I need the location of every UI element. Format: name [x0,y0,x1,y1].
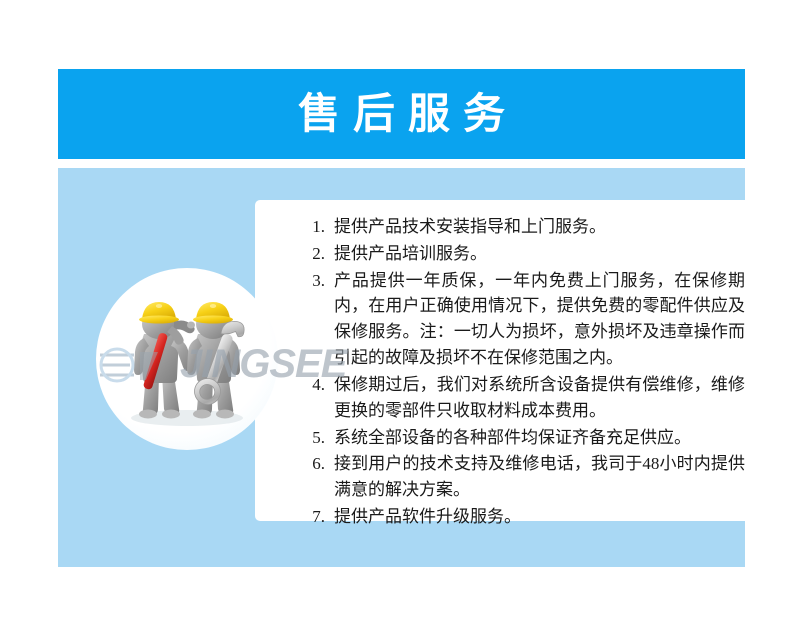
service-list: 提供产品技术安装指导和上门服务。 提供产品培训服务。 产品提供一年质保，一年内免… [255,200,803,530]
list-item: 产品提供一年质保，一年内免费上门服务，在保修期内，在用户正确使用情况下，提供免费… [301,268,745,371]
poster-root: 售后服务 提供产品技术安装指导和上门服务。 提供产品培训服务。 产品提供一年质保… [0,0,803,639]
list-item: 接到用户的技术支持及维修电话，我司于48小时内提供满意的解决方案。 [301,451,745,503]
worker-with-hammer [134,302,195,419]
worker-with-wrench [187,302,247,419]
content-card: 提供产品技术安装指导和上门服务。 提供产品培训服务。 产品提供一年质保，一年内免… [255,200,803,521]
header-banner: 售后服务 [58,69,745,159]
workers-figures-icon [96,268,278,450]
list-item: 保修期过后，我们对系统所含设备提供有偿维修，维修更换的零部件只收取材料成本费用。 [301,372,745,424]
list-item: 系统全部设备的各种部件均保证齐备充足供应。 [301,425,745,451]
list-item: 提供产品培训服务。 [301,241,745,267]
list-item: 提供产品技术安装指导和上门服务。 [301,214,745,240]
list-item: 提供产品软件升级服务。 [301,504,745,530]
workers-illustration [96,268,278,450]
page-title: 售后服务 [285,93,518,135]
